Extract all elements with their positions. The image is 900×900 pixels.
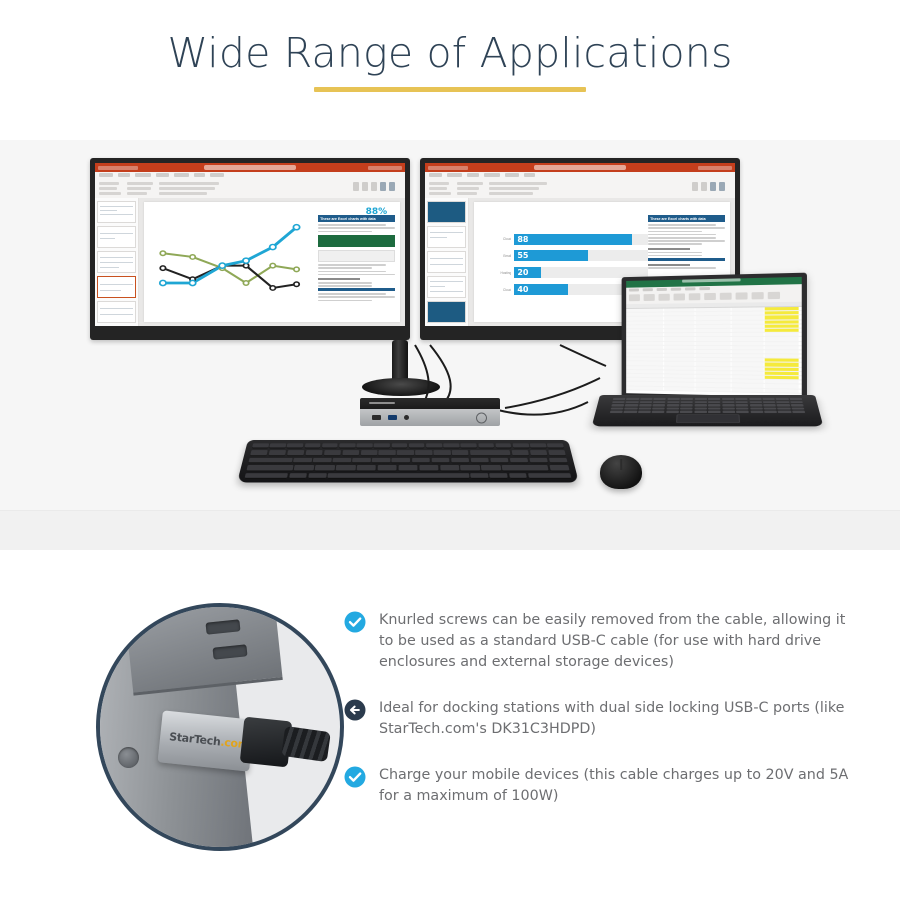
ribbon-tab[interactable] bbox=[99, 173, 113, 177]
panel-data-grid bbox=[318, 250, 395, 262]
desk-surface bbox=[0, 510, 900, 550]
check-circle-icon bbox=[344, 611, 366, 633]
hero-desk-scene: 88% These are Excel charts with data bbox=[0, 140, 900, 550]
bar-value-label: 55 bbox=[517, 251, 528, 260]
ribbon-icon-group[interactable] bbox=[353, 182, 401, 191]
dock-top-shell bbox=[360, 398, 500, 409]
ribbon-tab[interactable] bbox=[524, 173, 535, 177]
title-accent-underline bbox=[314, 87, 586, 92]
features-section: StarTech.com Knurled screws can be easil… bbox=[0, 572, 900, 900]
keyboard-row[interactable] bbox=[244, 473, 571, 479]
powerpoint-ribbon-right bbox=[425, 172, 735, 199]
keyboard-row[interactable] bbox=[246, 465, 569, 471]
ribbon-tab[interactable] bbox=[484, 173, 500, 177]
slide-thumbnail[interactable] bbox=[97, 226, 136, 248]
keyboard-row[interactable] bbox=[248, 458, 568, 464]
ribbon-tab[interactable] bbox=[429, 173, 442, 177]
bar-chart-row: Cloud 88 bbox=[489, 233, 648, 245]
panel-subheading bbox=[318, 278, 360, 280]
slide-editing-pane-left[interactable]: 88% These are Excel charts with data bbox=[139, 198, 405, 326]
page-header: Wide Range of Applications bbox=[0, 0, 900, 140]
excel-spreadsheet-grid[interactable] bbox=[626, 302, 802, 397]
list-item-label: Charge your mobile devices (this cable c… bbox=[379, 765, 860, 807]
slide-thumbnail[interactable] bbox=[427, 201, 466, 223]
device-screw-hole bbox=[118, 747, 139, 768]
line-chart bbox=[154, 221, 302, 295]
product-closeup-photo: StarTech.com bbox=[96, 603, 344, 851]
powerpoint-titlebar-right bbox=[425, 163, 735, 172]
laptop-lid bbox=[622, 273, 807, 406]
panel-heading: These are Excel charts with data bbox=[648, 215, 725, 222]
quick-access-toolbar bbox=[428, 166, 468, 170]
ribbon-tab[interactable] bbox=[210, 173, 224, 177]
feature-bullet-list: Knurled screws can be easily removed fro… bbox=[344, 610, 860, 807]
panel-subheading bbox=[648, 264, 690, 266]
window-controls bbox=[698, 166, 732, 170]
slide-thumbnail-pane-right[interactable] bbox=[425, 198, 469, 326]
document-title-field bbox=[204, 165, 296, 170]
bar-fill: 88 bbox=[514, 234, 632, 245]
slide-thumbnail[interactable] bbox=[427, 301, 466, 323]
slide-thumbnail[interactable] bbox=[97, 251, 136, 273]
slide-thumbnail[interactable] bbox=[427, 251, 466, 273]
slide-thumbnail[interactable] bbox=[427, 226, 466, 248]
ribbon-tab[interactable] bbox=[643, 288, 653, 291]
bar-track: 88 bbox=[514, 234, 648, 245]
panel-table-header bbox=[318, 235, 395, 247]
laptop-screen[interactable] bbox=[626, 277, 802, 397]
dock-front-panel[interactable] bbox=[360, 409, 500, 426]
keyboard-rows bbox=[244, 443, 571, 478]
audio-jack-port[interactable] bbox=[404, 415, 409, 420]
ribbon-tab[interactable] bbox=[174, 173, 189, 177]
dock-brand-mark bbox=[369, 402, 395, 404]
powerpoint-titlebar-left bbox=[95, 163, 405, 172]
laptop-keyboard[interactable] bbox=[610, 398, 805, 413]
ribbon-tab[interactable] bbox=[657, 288, 667, 291]
slide-thumbnail-pane-left[interactable] bbox=[95, 198, 139, 326]
cable-coil bbox=[281, 726, 331, 762]
list-item-label: Knurled screws can be easily removed fro… bbox=[379, 610, 860, 673]
ribbon-group[interactable] bbox=[429, 182, 451, 195]
list-item-label: Ideal for docking stations with dual sid… bbox=[379, 698, 860, 740]
desktop-keyboard[interactable] bbox=[237, 440, 579, 483]
ribbon-tabs[interactable] bbox=[425, 172, 735, 180]
bar-category-label: Cloud bbox=[489, 237, 511, 241]
powerpoint-workarea-left: 88% These are Excel charts with data bbox=[95, 198, 405, 326]
usb-c-docking-station[interactable] bbox=[360, 398, 500, 426]
line-series-black bbox=[163, 266, 297, 288]
ribbon-tab[interactable] bbox=[447, 173, 462, 177]
ribbon-tab[interactable] bbox=[685, 287, 696, 290]
slide-thumbnail[interactable] bbox=[97, 201, 136, 223]
device-top-panel bbox=[123, 603, 283, 696]
space-key bbox=[327, 473, 469, 479]
panel-subheading-banner bbox=[648, 258, 725, 261]
panel-heading: These are Excel charts with data bbox=[318, 215, 395, 222]
laptop-trackpad[interactable] bbox=[675, 414, 739, 423]
bar-fill: 20 bbox=[514, 267, 541, 278]
panel-subheading-banner bbox=[318, 288, 395, 291]
ribbon-tab[interactable] bbox=[156, 173, 169, 177]
ribbon-tab[interactable] bbox=[671, 288, 681, 291]
arrow-left-circle-icon bbox=[344, 699, 366, 721]
ribbon-group[interactable] bbox=[99, 182, 121, 195]
bar-value-label: 20 bbox=[517, 268, 528, 277]
bar-track: 55 bbox=[514, 250, 648, 261]
bar-chart-row: Email 55 bbox=[489, 250, 648, 262]
document-title-field bbox=[534, 165, 626, 170]
power-button-icon[interactable] bbox=[476, 412, 487, 423]
bar-value-label: 40 bbox=[517, 285, 528, 294]
keyboard-row[interactable] bbox=[252, 443, 564, 448]
ribbon-tab[interactable] bbox=[467, 173, 479, 177]
startech-logo: StarTech.com bbox=[169, 730, 250, 751]
list-item: Knurled screws can be easily removed fro… bbox=[344, 610, 860, 673]
bar-category-label: Cloud bbox=[489, 288, 511, 292]
list-item: Charge your mobile devices (this cable c… bbox=[344, 765, 860, 807]
ribbon-tab[interactable] bbox=[629, 288, 639, 291]
laptop bbox=[600, 275, 815, 450]
computer-mouse[interactable] bbox=[600, 455, 642, 489]
excel-rows[interactable] bbox=[626, 307, 802, 394]
ribbon-tab[interactable] bbox=[118, 173, 130, 177]
ribbon-group[interactable] bbox=[159, 182, 219, 195]
ribbon-tab[interactable] bbox=[699, 287, 710, 290]
list-item: Ideal for docking stations with dual sid… bbox=[344, 698, 860, 740]
ribbon-group[interactable] bbox=[489, 182, 547, 195]
keyboard-row[interactable] bbox=[250, 450, 566, 456]
slide-canvas-left[interactable]: 88% These are Excel charts with data bbox=[144, 202, 400, 322]
usb-c-connector-head: StarTech.com bbox=[158, 710, 255, 771]
laptop-base bbox=[592, 395, 824, 426]
ribbon-group[interactable] bbox=[127, 182, 153, 195]
ribbon-tab[interactable] bbox=[505, 173, 519, 177]
monitor-stand-base bbox=[362, 378, 440, 396]
usb-c-port[interactable] bbox=[372, 415, 381, 420]
slide-text-panel-left: These are Excel charts with data bbox=[318, 215, 395, 317]
monitor-left-screen: 88% These are Excel charts with data bbox=[95, 163, 405, 326]
ribbon-tab[interactable] bbox=[194, 173, 205, 177]
window-controls bbox=[368, 166, 402, 170]
panel-subheading bbox=[648, 248, 690, 250]
monitor-left: 88% These are Excel charts with data bbox=[90, 158, 410, 340]
line-series-olive bbox=[163, 253, 297, 283]
bar-value-label: 88 bbox=[517, 235, 528, 244]
bar-category-label: Email bbox=[489, 254, 511, 258]
bar-fill: 40 bbox=[514, 284, 567, 295]
ribbon-group[interactable] bbox=[457, 182, 483, 195]
check-circle-icon bbox=[344, 766, 366, 788]
slide-thumbnail[interactable] bbox=[427, 276, 466, 298]
ribbon-icon-group[interactable] bbox=[692, 182, 731, 191]
quick-access-toolbar bbox=[98, 166, 138, 170]
slide-thumbnail-selected[interactable] bbox=[97, 276, 136, 298]
ribbon-commands[interactable] bbox=[95, 180, 405, 197]
slide-thumbnail[interactable] bbox=[97, 301, 136, 323]
powerpoint-ribbon-left bbox=[95, 172, 405, 199]
usb-a-port[interactable] bbox=[388, 415, 397, 420]
bar-category-label: Hosting bbox=[489, 271, 511, 275]
ribbon-tab[interactable] bbox=[135, 173, 151, 177]
bar-fill: 55 bbox=[514, 250, 588, 261]
ribbon-commands[interactable] bbox=[425, 180, 735, 197]
ribbon-tabs[interactable] bbox=[95, 172, 405, 180]
page-title: Wide Range of Applications bbox=[167, 33, 732, 74]
